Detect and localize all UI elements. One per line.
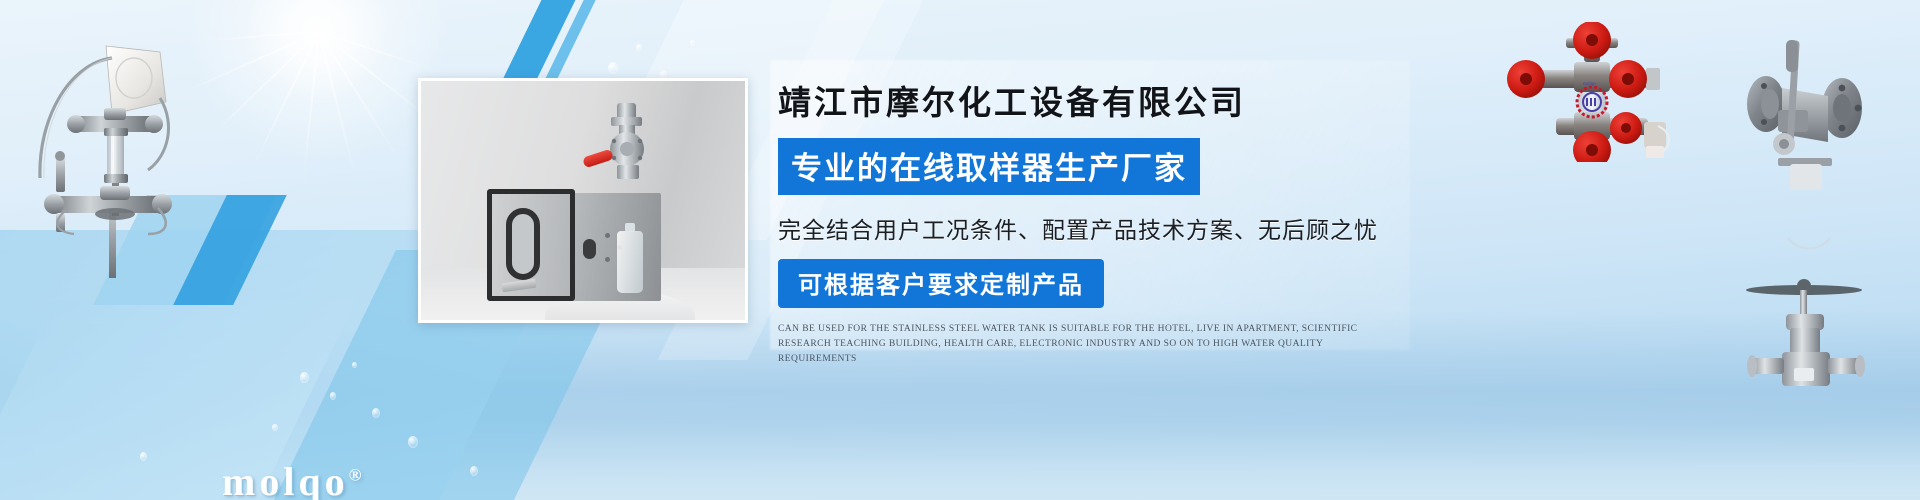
- flanged-lever-valve-svg: [1712, 22, 1902, 202]
- product-photo: [418, 78, 748, 323]
- cross-valve-manifold-svg: molqo: [1498, 22, 1688, 162]
- pill-wrapper: 可根据客户要求定制产品: [778, 259, 1398, 308]
- water-droplet-icon: [140, 452, 147, 461]
- subline-text: 完全结合用户工况条件、配置产品技术方案、无后顾之忧: [778, 211, 1398, 245]
- registered-trademark-icon: ®: [349, 466, 362, 485]
- brand-watermark-text: molqo: [222, 459, 349, 500]
- brand-watermark: molqo®: [222, 458, 361, 500]
- valve-head-svg: [599, 103, 655, 181]
- water-droplet-icon: [636, 44, 642, 51]
- water-droplet-icon: [408, 436, 418, 448]
- english-description: CAN BE USED FOR THE STAINLESS STEEL WATE…: [778, 322, 1378, 367]
- water-droplet-icon: [372, 408, 380, 418]
- svg-text:molqo: molqo: [1583, 82, 1596, 87]
- water-droplet-icon: [608, 62, 618, 74]
- water-droplet-icon: [352, 362, 357, 368]
- water-droplet-icon: [272, 424, 278, 431]
- sampling-valve-svg: [1742, 228, 1920, 403]
- water-droplet-icon: [330, 392, 336, 400]
- sampler-cabinet-body: [571, 193, 661, 301]
- water-droplet-icon: [300, 372, 309, 383]
- right-lever-valve-image: [1712, 22, 1902, 202]
- right-top-equipment-image: molqo: [1498, 22, 1688, 162]
- water-droplet-icon: [690, 40, 695, 46]
- sampler-cabinet-door: [487, 189, 575, 301]
- custom-product-pill: 可根据客户要求定制产品: [778, 259, 1104, 308]
- banner-copy: 靖江市摩尔化工设备有限公司 专业的在线取样器生产厂家 完全结合用户工况条件、配置…: [778, 76, 1398, 367]
- right-bottom-equipment-image: [1742, 228, 1920, 403]
- sample-bottle: [617, 231, 643, 293]
- cabinet-latch: [502, 279, 537, 293]
- left-equipment-image: [8, 28, 178, 278]
- promo-banner: molqo: [0, 0, 1920, 500]
- pipeline-sampler-svg: [8, 28, 178, 278]
- company-name: 靖江市摩尔化工设备有限公司: [778, 76, 1398, 124]
- water-droplet-icon: [470, 466, 478, 476]
- tagline-highlight: 专业的在线取样器生产厂家: [778, 138, 1200, 195]
- cabinet-window: [506, 208, 540, 280]
- sampler-valve-head: [599, 103, 655, 181]
